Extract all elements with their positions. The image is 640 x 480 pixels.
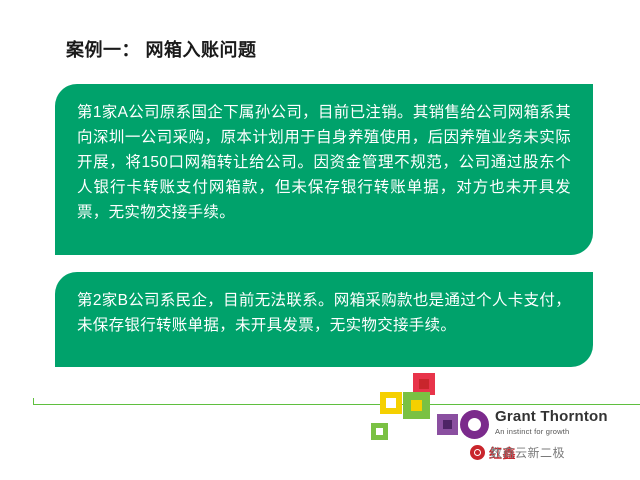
case-box-2: 第2家B公司系民企，目前无法联系。网箱采购款也是通过个人卡支付，未保存银行转账单… — [55, 272, 593, 367]
case-box-2-text: 第2家B公司系民企，目前无法联系。网箱采购款也是通过个人卡支付，未保存银行转账单… — [77, 288, 571, 338]
case-box-1-text: 第1家A公司原系国企下属孙公司，目前已注销。其销售给公司网箱系其向深圳一公司采购… — [77, 100, 571, 226]
watermark-gray-text: 数商云新二极 — [490, 444, 565, 461]
slide-canvas: 案例一： 网箱入账问题 第1家A公司原系国企下属孙公司，目前已注销。其销售给公司… — [0, 0, 640, 480]
logo-subtitle: An instinct for growth — [495, 427, 608, 436]
watermark: 红鑫 数商云新二极 — [470, 443, 565, 462]
square-yellow-icon — [380, 392, 402, 414]
watermark-badge-icon — [470, 445, 485, 460]
page-title: 案例一： 网箱入账问题 — [66, 36, 257, 62]
case-box-1: 第1家A公司原系国企下属孙公司，目前已注销。其销售给公司网箱系其向深圳一公司采购… — [55, 84, 593, 255]
divider-line — [33, 404, 640, 405]
square-green-small-icon — [371, 423, 388, 440]
square-purple-icon — [437, 414, 458, 435]
grant-thornton-mark-icon — [460, 410, 489, 439]
grant-thornton-text: Grant Thornton An instinct for growth — [495, 409, 608, 436]
divider-tick — [33, 398, 34, 405]
grant-thornton-logo: Grant Thornton An instinct for growth — [460, 408, 630, 444]
logo-name: Grant Thornton — [495, 409, 608, 425]
square-green-icon — [403, 392, 430, 419]
